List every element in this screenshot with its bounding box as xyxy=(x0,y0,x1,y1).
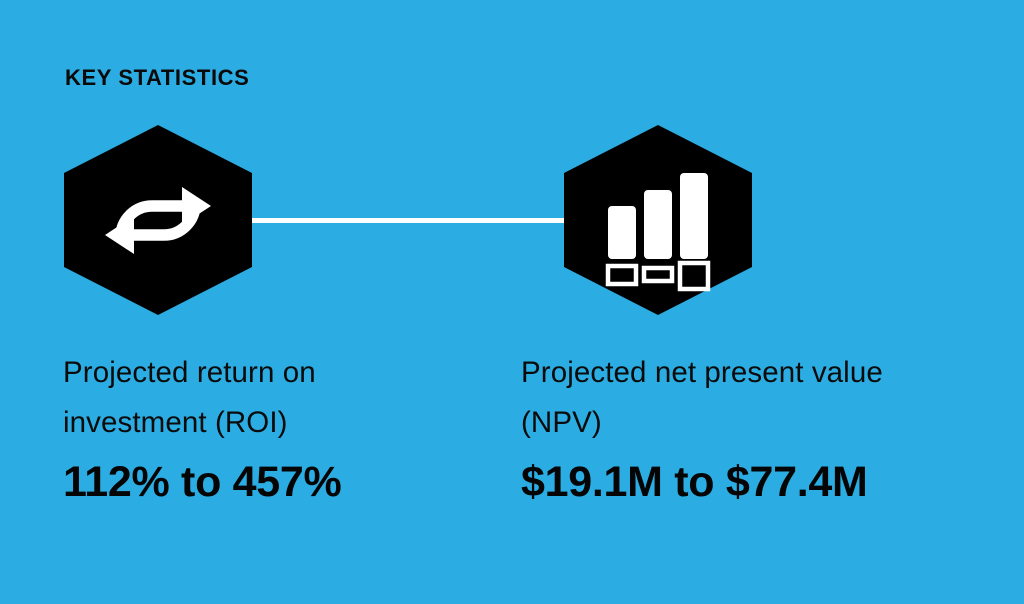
refresh-arrows-icon xyxy=(64,125,252,315)
stat-label-line-1: Projected net present value xyxy=(521,356,883,389)
stat-block-roi: Projected return on investment (ROI) 112… xyxy=(63,348,513,510)
stat-value-roi: 112% to 457% xyxy=(63,454,513,510)
stat-label-roi: Projected return on investment (ROI) xyxy=(63,348,513,448)
stat-value-npv: $19.1M to $77.4M xyxy=(521,454,971,510)
stat-block-npv: Projected net present value (NPV) $19.1M… xyxy=(521,348,971,510)
stat-label-line-2: investment (ROI) xyxy=(63,406,288,439)
stat-badge-roi xyxy=(64,125,252,315)
infographic-canvas: KEY STATISTICS xyxy=(0,0,1024,604)
connector-line xyxy=(249,218,566,223)
stat-label-line-1: Projected return on xyxy=(63,356,316,389)
bar-chart-icon xyxy=(564,125,752,315)
page-title: KEY STATISTICS xyxy=(65,67,249,89)
stat-label-npv: Projected net present value (NPV) xyxy=(521,348,971,448)
stat-label-line-2: (NPV) xyxy=(521,406,602,439)
stat-badge-npv xyxy=(564,125,752,315)
